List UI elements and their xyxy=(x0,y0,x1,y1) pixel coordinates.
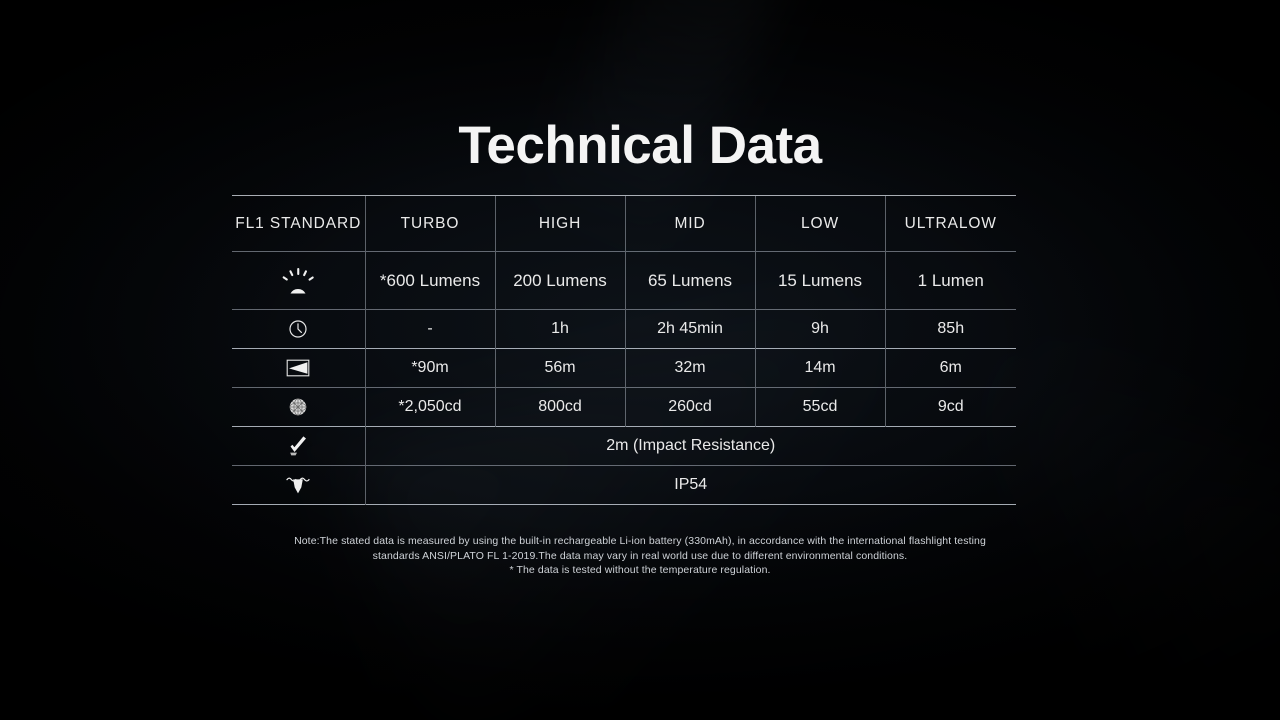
beam-distance-icon xyxy=(232,349,365,388)
table-row: - 1h 2h 45min 9h 85h xyxy=(232,310,1016,349)
table-row: *2,050cd 800cd 260cd 55cd 9cd xyxy=(232,388,1016,427)
cell-impact-resistance: 2m (Impact Resistance) xyxy=(365,427,1016,466)
column-header-ultralow: ULTRALOW xyxy=(885,196,1016,252)
cell-intensity-mid: 260cd xyxy=(625,388,755,427)
column-header-turbo: TURBO xyxy=(365,196,495,252)
technical-data-table: FL1 STANDARD TURBO HIGH MID LOW ULTRALOW xyxy=(232,195,1016,505)
cell-intensity-high: 800cd xyxy=(495,388,625,427)
column-header-low: LOW xyxy=(755,196,885,252)
cell-distance-mid: 32m xyxy=(625,349,755,388)
cell-intensity-ultralow: 9cd xyxy=(885,388,1016,427)
cell-runtime-low: 9h xyxy=(755,310,885,349)
footnote: Note:The stated data is measured by usin… xyxy=(0,534,1280,578)
cell-distance-turbo: *90m xyxy=(365,349,495,388)
table-bottom-border-row xyxy=(232,505,1016,506)
water-resistance-icon xyxy=(232,466,365,505)
cell-lumens-low: 15 Lumens xyxy=(755,252,885,310)
table-row: *600 Lumens 200 Lumens 65 Lumens 15 Lume… xyxy=(232,252,1016,310)
column-header-mid: MID xyxy=(625,196,755,252)
table-row: IP54 xyxy=(232,466,1016,505)
clock-icon xyxy=(232,310,365,349)
cell-distance-high: 56m xyxy=(495,349,625,388)
cell-lumens-mid: 65 Lumens xyxy=(625,252,755,310)
brightness-rays-icon xyxy=(232,252,365,310)
cell-lumens-high: 200 Lumens xyxy=(495,252,625,310)
page-title: Technical Data xyxy=(0,118,1280,174)
slide-stage: Technical Data FL1 STANDARD TURBO HIGH M… xyxy=(0,0,1280,720)
cell-lumens-ultralow: 1 Lumen xyxy=(885,252,1016,310)
column-header-fl1-standard: FL1 STANDARD xyxy=(232,196,365,252)
peak-beam-intensity-icon xyxy=(232,388,365,427)
table-header-row: FL1 STANDARD TURBO HIGH MID LOW ULTRALOW xyxy=(232,196,1016,252)
footnote-line-2: standards ANSI/PLATO FL 1-2019.The data … xyxy=(0,549,1280,564)
cell-runtime-turbo: - xyxy=(365,310,495,349)
footnote-line-1: Note:The stated data is measured by usin… xyxy=(0,534,1280,549)
footnote-line-3: * The data is tested without the tempera… xyxy=(0,563,1280,578)
table-row: 2m (Impact Resistance) xyxy=(232,427,1016,466)
cell-intensity-low: 55cd xyxy=(755,388,885,427)
cell-runtime-mid: 2h 45min xyxy=(625,310,755,349)
table-row: *90m 56m 32m 14m 6m xyxy=(232,349,1016,388)
cell-water-resistance: IP54 xyxy=(365,466,1016,505)
cell-intensity-turbo: *2,050cd xyxy=(365,388,495,427)
cell-runtime-ultralow: 85h xyxy=(885,310,1016,349)
cell-distance-low: 14m xyxy=(755,349,885,388)
column-header-high: HIGH xyxy=(495,196,625,252)
cell-runtime-high: 1h xyxy=(495,310,625,349)
cell-lumens-turbo: *600 Lumens xyxy=(365,252,495,310)
impact-resistance-icon xyxy=(232,427,365,466)
cell-distance-ultralow: 6m xyxy=(885,349,1016,388)
